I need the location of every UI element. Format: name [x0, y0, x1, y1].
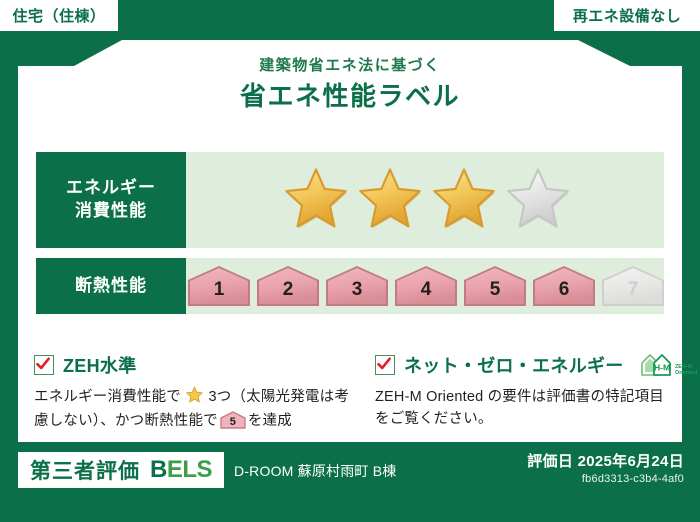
heading-title: 省エネ性能ラベル — [0, 82, 700, 111]
star-rating — [280, 167, 570, 234]
insulation-badge-value: 1 — [186, 279, 252, 301]
badge-building-type: 住宅（住棟） — [0, 0, 120, 33]
check-icon — [375, 355, 395, 375]
bels-letters-els: ELS — [167, 456, 212, 483]
svg-text:H-M: H-M — [654, 363, 670, 373]
star-icon-filled — [284, 167, 348, 234]
bels-mark: 第三者評価 BELS — [18, 452, 224, 488]
insulation-badge-on: 4 — [393, 264, 459, 308]
feature-blocks: ZEH水準 エネルギー消費性能で 3つ（太陽光発電は考慮しない）、かつ断熱性能で… — [34, 352, 668, 433]
row-energy-label: エネルギー 消費性能 — [36, 152, 186, 248]
energy-label-root: 住宅（住棟） 再エネ設備なし 建築物省エネ法に基づく 省エネ性能ラベル エネルギ… — [0, 0, 700, 522]
badge-renewable-equipment-label: 再エネ設備なし — [573, 5, 682, 26]
badge-renewable-equipment: 再エネ設備なし — [552, 0, 700, 33]
bels-jp-label: 第三者評価 — [30, 455, 140, 485]
feature-zeh-standard-body: エネルギー消費性能で 3つ（太陽光発電は考慮しない）、かつ断熱性能で 5 を達成 — [34, 386, 351, 433]
row-insulation-performance: 断熱性能 1234567 — [36, 258, 664, 314]
row-energy-performance: エネルギー 消費性能 — [36, 152, 664, 248]
insulation-badge-on: 6 — [531, 264, 597, 308]
svg-text:Oriented: Oriented — [675, 370, 697, 376]
inline-star-icon — [182, 391, 207, 407]
feature-net-zero-head: ネット・ゼロ・エネルギー H-M ZEH-M Oriented — [375, 352, 668, 378]
label-footer: 第三者評価 BELS D-ROOM 蘇原村雨町 B棟 評価日 2025年6月24… — [0, 442, 700, 522]
insulation-badge-value: 6 — [531, 279, 597, 301]
feature-net-zero-body: ZEH-M Oriented の要件は評価書の特記項目をご覧ください。 — [375, 386, 668, 431]
insulation-badge-on: 5 — [462, 264, 528, 308]
insulation-badge-value: 7 — [600, 279, 666, 301]
row-insulation-body: 1234567 — [186, 258, 666, 314]
feature-zeh-standard: ZEH水準 エネルギー消費性能で 3つ（太陽光発電は考慮しない）、かつ断熱性能で… — [34, 352, 351, 433]
evaluation-date: 評価日 2025年6月24日 — [527, 450, 684, 471]
star-icon-empty — [506, 167, 570, 234]
row-energy-body — [186, 152, 664, 248]
check-icon — [34, 355, 54, 375]
inline-insulation-badge-value: 5 — [220, 414, 246, 431]
insulation-badge-off: 7 — [600, 264, 666, 308]
row-insulation-label-line1: 断熱性能 — [75, 275, 147, 298]
zeh-m-oriented-logo: H-M ZEH-M Oriented — [639, 350, 700, 380]
evaluation-id: fb6d3313-c3b4-4af0 — [527, 473, 684, 485]
insulation-badge-value: 3 — [324, 279, 390, 301]
feature-zeh-standard-head: ZEH水準 — [34, 352, 351, 378]
bels-letter-b: B — [150, 456, 167, 483]
star-icon-filled — [432, 167, 496, 234]
bels-en-label: BELS — [150, 458, 212, 482]
inline-insulation-badge: 5 — [220, 411, 246, 429]
row-energy-label-line1: エネルギー — [66, 177, 156, 200]
star-icon-filled — [358, 167, 422, 234]
feature-zeh-text-tail: を達成 — [248, 413, 292, 429]
feature-zeh-standard-title: ZEH水準 — [63, 352, 137, 378]
heading-subtitle: 建築物省エネ法に基づく — [0, 58, 700, 75]
building-name: D-ROOM 蘇原村雨町 B棟 — [234, 461, 396, 481]
insulation-badge-on: 2 — [255, 264, 321, 308]
metric-rows: エネルギー 消費性能 断熱性能 1234567 — [36, 152, 664, 314]
feature-net-zero-energy: ネット・ゼロ・エネルギー H-M ZEH-M Oriented ZE — [351, 352, 668, 433]
badge-building-type-label: 住宅（住棟） — [12, 5, 105, 26]
insulation-level-scale: 1234567 — [186, 264, 666, 308]
insulation-badge-on: 3 — [324, 264, 390, 308]
feature-zeh-text-before: エネルギー消費性能で — [34, 389, 181, 405]
row-energy-label-line2: 消費性能 — [75, 200, 147, 223]
insulation-badge-value: 5 — [462, 279, 528, 301]
row-insulation-label: 断熱性能 — [36, 258, 186, 314]
feature-net-zero-title: ネット・ゼロ・エネルギー — [404, 352, 624, 378]
label-heading: 建築物省エネ法に基づく 省エネ性能ラベル — [0, 58, 700, 110]
insulation-badge-value: 4 — [393, 279, 459, 301]
insulation-badge-value: 2 — [255, 279, 321, 301]
insulation-badge-on: 1 — [186, 264, 252, 308]
evaluation-info: 評価日 2025年6月24日 fb6d3313-c3b4-4af0 — [527, 450, 684, 485]
